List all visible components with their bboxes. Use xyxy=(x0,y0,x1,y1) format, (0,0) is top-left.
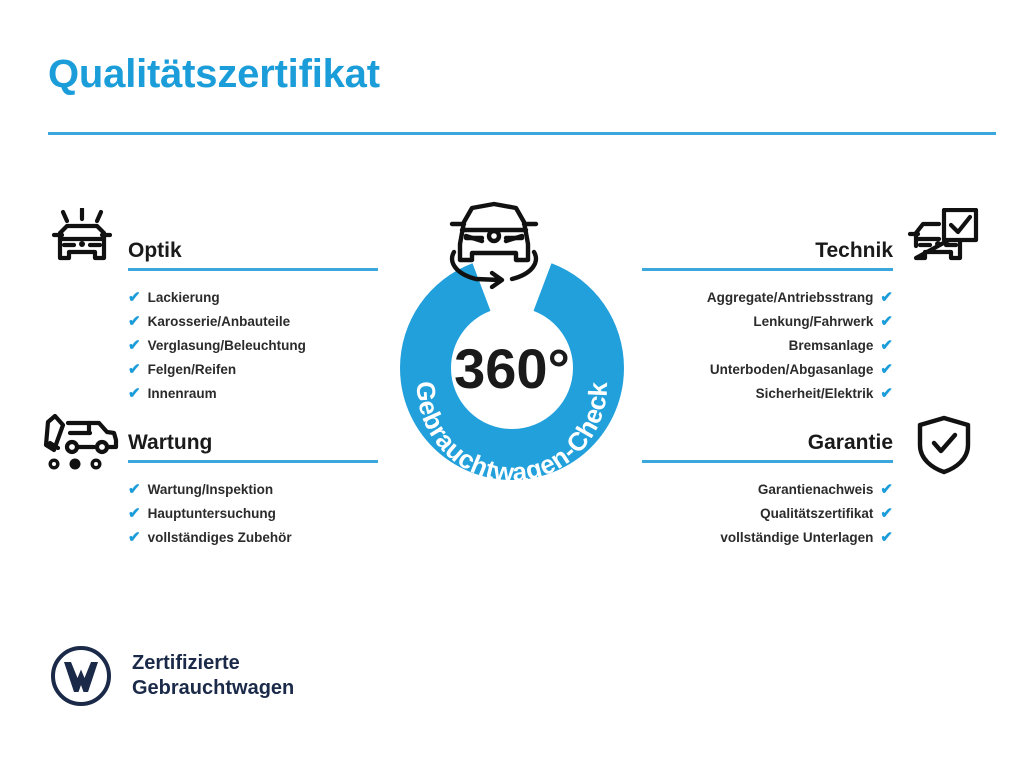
section-wartung: Wartung ✔ Wartung/Inspektion ✔ Hauptunte… xyxy=(128,430,378,550)
section-technik-divider xyxy=(642,268,893,271)
check-icon: ✔ xyxy=(880,478,893,502)
badge-360-gebrauchtwagen-check: Gebrauchtwagen-Check 360° xyxy=(378,190,646,490)
section-garantie-list: Garantienachweis ✔ Qualitätszertifikat ✔… xyxy=(642,478,893,550)
page-title: Qualitätszertifikat xyxy=(48,52,380,97)
list-item-label: vollständige Unterlagen xyxy=(720,526,873,550)
check-icon: ✔ xyxy=(880,526,893,550)
list-item: ✔ Lackierung xyxy=(128,286,378,310)
list-item-label: Garantienachweis xyxy=(758,478,874,502)
list-item-label: Bremsanlage xyxy=(789,334,874,358)
car-front-checkbox-icon xyxy=(906,208,980,275)
list-item-label: vollständiges Zubehör xyxy=(148,526,292,550)
vw-footer-text: Zertifizierte Gebrauchtwagen xyxy=(132,651,294,701)
list-item-label: Qualitätszertifikat xyxy=(760,502,873,526)
section-technik-header: Technik xyxy=(642,238,893,272)
list-item: Bremsanlage ✔ xyxy=(642,334,893,358)
list-item: ✔ vollständiges Zubehör xyxy=(128,526,378,550)
section-optik-divider xyxy=(128,268,378,271)
check-icon: ✔ xyxy=(128,502,141,526)
section-optik-title: Optik xyxy=(128,238,378,264)
car-front-shine-icon xyxy=(46,208,118,275)
list-item-label: Innenraum xyxy=(148,382,217,406)
list-item-label: Karosserie/Anbauteile xyxy=(148,310,291,334)
list-item-label: Lackierung xyxy=(148,286,220,310)
pen-car-service-icon xyxy=(42,414,122,477)
section-optik-list: ✔ Lackierung ✔ Karosserie/Anbauteile ✔ V… xyxy=(128,286,378,406)
section-wartung-title: Wartung xyxy=(128,430,378,456)
list-item-label: Wartung/Inspektion xyxy=(148,478,274,502)
section-garantie-header: Garantie xyxy=(642,430,893,464)
vw-logo xyxy=(50,645,112,707)
list-item-label: Lenkung/Fahrwerk xyxy=(753,310,873,334)
check-icon: ✔ xyxy=(128,334,141,358)
section-optik: Optik ✔ Lackierung ✔ Karosserie/Anbautei… xyxy=(128,238,378,406)
section-wartung-list: ✔ Wartung/Inspektion ✔ Hauptuntersuchung… xyxy=(128,478,378,550)
list-item-label: Hauptuntersuchung xyxy=(148,502,276,526)
list-item-label: Unterboden/Abgasanlage xyxy=(710,358,874,382)
section-technik-list: Aggregate/Antriebsstrang ✔ Lenkung/Fahrw… xyxy=(642,286,893,406)
section-garantie-title: Garantie xyxy=(642,430,893,456)
badge-center-label: 360° xyxy=(454,337,570,400)
list-item: Garantienachweis ✔ xyxy=(642,478,893,502)
check-icon: ✔ xyxy=(880,502,893,526)
check-icon: ✔ xyxy=(880,310,893,334)
list-item-label: Sicherheit/Elektrik xyxy=(756,382,874,406)
list-item: vollständige Unterlagen ✔ xyxy=(642,526,893,550)
section-optik-header: Optik xyxy=(128,238,378,272)
title-divider xyxy=(48,132,996,135)
list-item: Aggregate/Antriebsstrang ✔ xyxy=(642,286,893,310)
vw-certified-footer: Zertifizierte Gebrauchtwagen xyxy=(50,645,294,707)
certificate-page: Qualitätszertifikat xyxy=(0,0,1024,768)
section-technik: Technik Aggregate/Antriebsstrang ✔ Lenku… xyxy=(642,238,893,406)
check-icon: ✔ xyxy=(128,478,141,502)
list-item-label: Aggregate/Antriebsstrang xyxy=(707,286,874,310)
car-front-rotate-icon xyxy=(452,204,536,287)
list-item: Unterboden/Abgasanlage ✔ xyxy=(642,358,893,382)
list-item-label: Felgen/Reifen xyxy=(148,358,237,382)
list-item: ✔ Innenraum xyxy=(128,382,378,406)
list-item: ✔ Hauptuntersuchung xyxy=(128,502,378,526)
check-icon: ✔ xyxy=(880,358,893,382)
list-item: Qualitätszertifikat ✔ xyxy=(642,502,893,526)
check-icon: ✔ xyxy=(880,286,893,310)
list-item: Lenkung/Fahrwerk ✔ xyxy=(642,310,893,334)
section-garantie: Garantie Garantienachweis ✔ Qualitätszer… xyxy=(642,430,893,550)
check-icon: ✔ xyxy=(128,382,141,406)
list-item: ✔ Karosserie/Anbauteile xyxy=(128,310,378,334)
check-icon: ✔ xyxy=(128,286,141,310)
check-icon: ✔ xyxy=(880,382,893,406)
list-item-label: Verglasung/Beleuchtung xyxy=(148,334,306,358)
check-icon: ✔ xyxy=(128,310,141,334)
section-wartung-header: Wartung xyxy=(128,430,378,464)
vw-footer-line1: Zertifizierte xyxy=(132,651,294,676)
list-item: ✔ Verglasung/Beleuchtung xyxy=(128,334,378,358)
list-item: ✔ Wartung/Inspektion xyxy=(128,478,378,502)
section-technik-title: Technik xyxy=(642,238,893,264)
check-icon: ✔ xyxy=(128,526,141,550)
vw-footer-line2: Gebrauchtwagen xyxy=(132,676,294,701)
list-item: ✔ Felgen/Reifen xyxy=(128,358,378,382)
section-garantie-divider xyxy=(642,460,893,463)
section-wartung-divider xyxy=(128,460,378,463)
shield-check-icon xyxy=(914,414,974,481)
check-icon: ✔ xyxy=(880,334,893,358)
list-item: Sicherheit/Elektrik ✔ xyxy=(642,382,893,406)
check-icon: ✔ xyxy=(128,358,141,382)
